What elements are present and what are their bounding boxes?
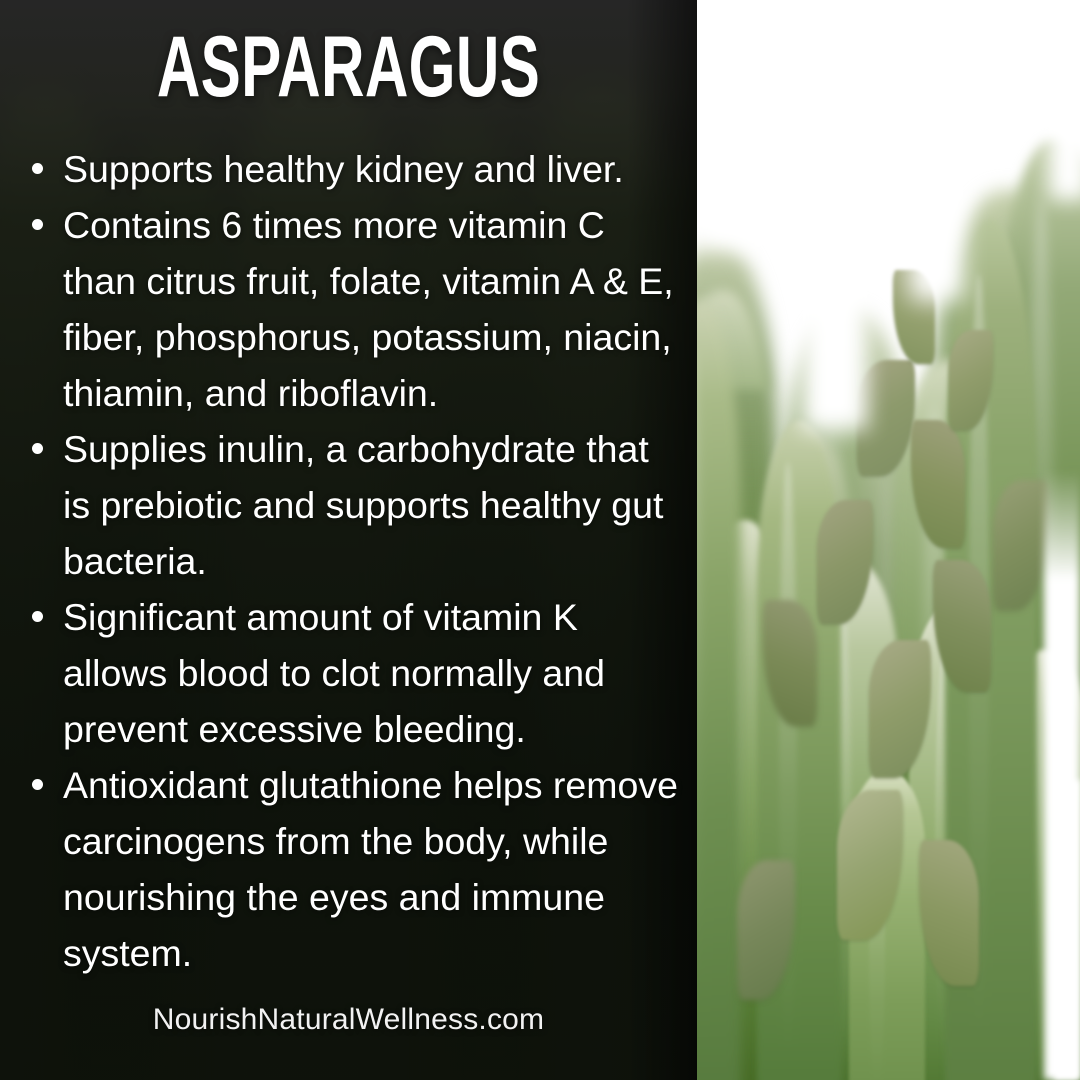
infographic-card: ASPARAGUS Supports healthy kidney and li… bbox=[0, 0, 1080, 1080]
photo-gap-highlight-4 bbox=[1049, 0, 1080, 200]
asparagus-tip-tall-left bbox=[697, 300, 741, 1080]
list-item: Supports healthy kidney and liver. bbox=[26, 141, 686, 197]
asparagus-photo bbox=[697, 0, 1080, 1080]
benefits-list: Supports healthy kidney and liver. Conta… bbox=[26, 141, 686, 981]
list-item: Significant amount of vitamin K allows b… bbox=[26, 589, 686, 757]
photo-gap-highlight-1 bbox=[803, 0, 867, 430]
bullet-dot-icon bbox=[32, 611, 43, 622]
photo-gap-highlight-2 bbox=[911, 0, 963, 300]
list-item-text: Contains 6 times more vitamin C than cit… bbox=[63, 204, 674, 414]
bullet-dot-icon bbox=[32, 219, 43, 230]
list-item-text: Antioxidant glutathione helps remove car… bbox=[63, 764, 678, 974]
website-footer: NourishNaturalWellness.com bbox=[0, 1000, 697, 1040]
list-item-text: Significant amount of vitamin K allows b… bbox=[63, 596, 605, 750]
list-item-text: Supplies inulin, a carbohydrate that is … bbox=[63, 428, 663, 582]
photo-gap-highlight-3 bbox=[697, 0, 769, 250]
photo-bottom-white-edge bbox=[1054, 780, 1080, 1080]
bullet-dot-icon bbox=[32, 163, 43, 174]
list-item: Supplies inulin, a carbohydrate that is … bbox=[26, 421, 686, 589]
text-panel: ASPARAGUS Supports healthy kidney and li… bbox=[0, 0, 697, 1080]
bullet-dot-icon bbox=[32, 779, 43, 790]
list-item: Contains 6 times more vitamin C than cit… bbox=[26, 197, 686, 421]
list-item: Antioxidant glutathione helps remove car… bbox=[26, 757, 686, 981]
bullet-dot-icon bbox=[32, 443, 43, 454]
page-title: ASPARAGUS bbox=[105, 24, 593, 110]
list-item-text: Supports healthy kidney and liver. bbox=[63, 148, 624, 190]
